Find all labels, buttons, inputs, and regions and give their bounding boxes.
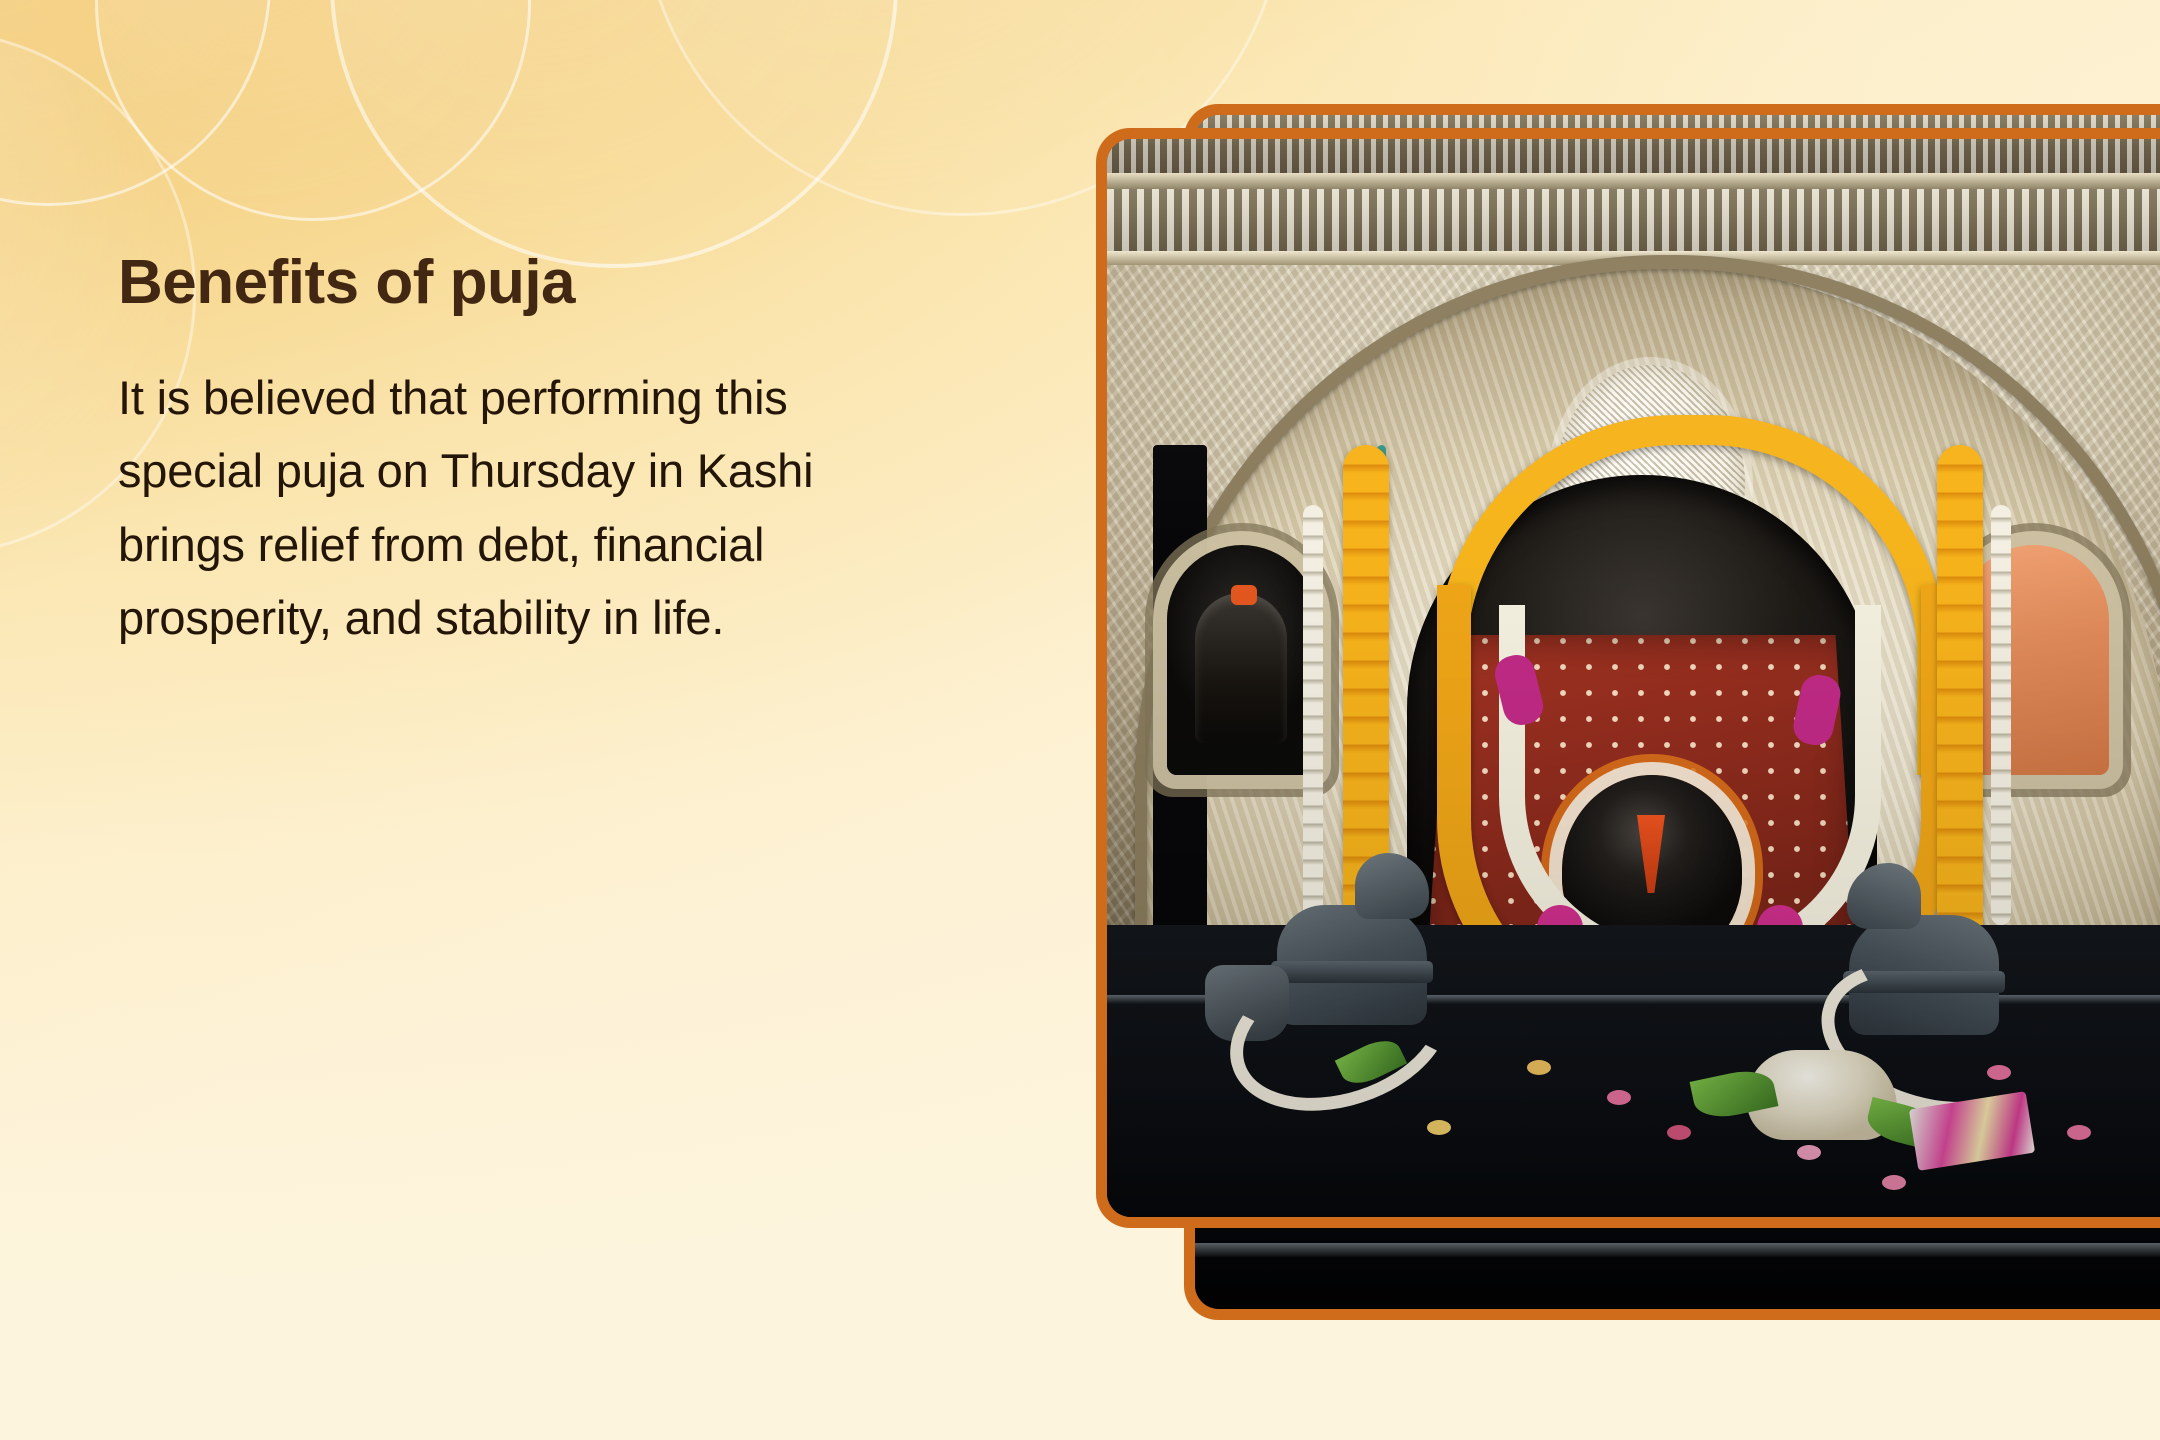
flower-petal — [1607, 1090, 1631, 1105]
flower-petal — [1527, 1060, 1551, 1075]
page-title: Benefits of puja — [118, 250, 938, 315]
body-paragraph: It is believed that performing this spec… — [118, 361, 908, 654]
shrine-photo-panel — [1096, 104, 2160, 1320]
flower-petal — [1797, 1145, 1821, 1160]
cornice-band — [1107, 139, 2160, 173]
bead-strand — [1991, 505, 2011, 925]
flower-petal — [2067, 1125, 2091, 1140]
shrine-scene-extension — [1107, 139, 2160, 1217]
platform-lip — [1195, 1243, 2160, 1257]
photo-pane-lower — [1096, 128, 2160, 1228]
flower-petal — [1667, 1125, 1691, 1140]
left-niche — [1167, 545, 1317, 775]
cornice-band — [1107, 173, 2160, 189]
flower-petal — [1987, 1065, 2011, 1080]
slide-canvas: Benefits of puja It is believed that per… — [0, 0, 2160, 1440]
cornice-band — [1107, 189, 2160, 251]
niche-tilak-mark — [1231, 585, 1257, 605]
text-column: Benefits of puja It is believed that per… — [118, 250, 938, 654]
flower-petal — [1882, 1175, 1906, 1190]
photo-pane-lower-inner — [1107, 139, 2160, 1217]
bead-strand — [1303, 505, 1323, 925]
flower-petal — [1427, 1120, 1451, 1135]
